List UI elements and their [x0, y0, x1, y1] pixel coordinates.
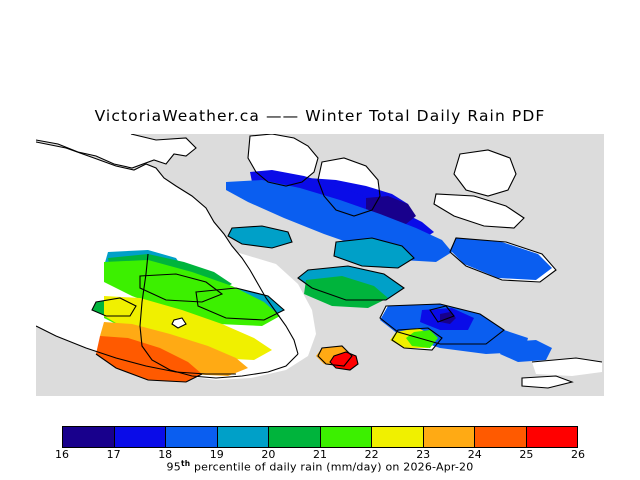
- colorbar-swatch-6: [372, 427, 424, 447]
- colorbar-swatch-8: [475, 427, 527, 447]
- colorbar-swatch-0: [63, 427, 115, 447]
- weather-map-page: VictoriaWeather.ca —— Winter Total Daily…: [0, 0, 640, 480]
- colorbar-swatch-4: [269, 427, 321, 447]
- colorbar-swatch-2: [166, 427, 218, 447]
- colorbar-swatch-3: [218, 427, 270, 447]
- colorbar-swatch-7: [424, 427, 476, 447]
- colorbar-swatch-1: [115, 427, 167, 447]
- colorbar-swatch-5: [321, 427, 373, 447]
- colorbar: [62, 426, 578, 448]
- page-title: VictoriaWeather.ca —— Winter Total Daily…: [0, 107, 640, 125]
- island-north-4: [434, 194, 524, 228]
- caption-prefix: 95: [167, 461, 181, 474]
- contour-band-18-19-tail: [500, 340, 552, 362]
- colorbar-swatch-9: [527, 427, 578, 447]
- map-svg: [36, 134, 604, 396]
- map-canvas: [36, 134, 604, 396]
- colorbar-caption: 95th percentile of daily rain (mm/day) o…: [0, 459, 640, 474]
- contour-band-18-19-island: [450, 238, 552, 280]
- caption-superscript: th: [181, 459, 190, 468]
- caption-rest: percentile of daily rain (mm/day) on 202…: [190, 461, 473, 474]
- colorbar-swatches: [62, 426, 578, 448]
